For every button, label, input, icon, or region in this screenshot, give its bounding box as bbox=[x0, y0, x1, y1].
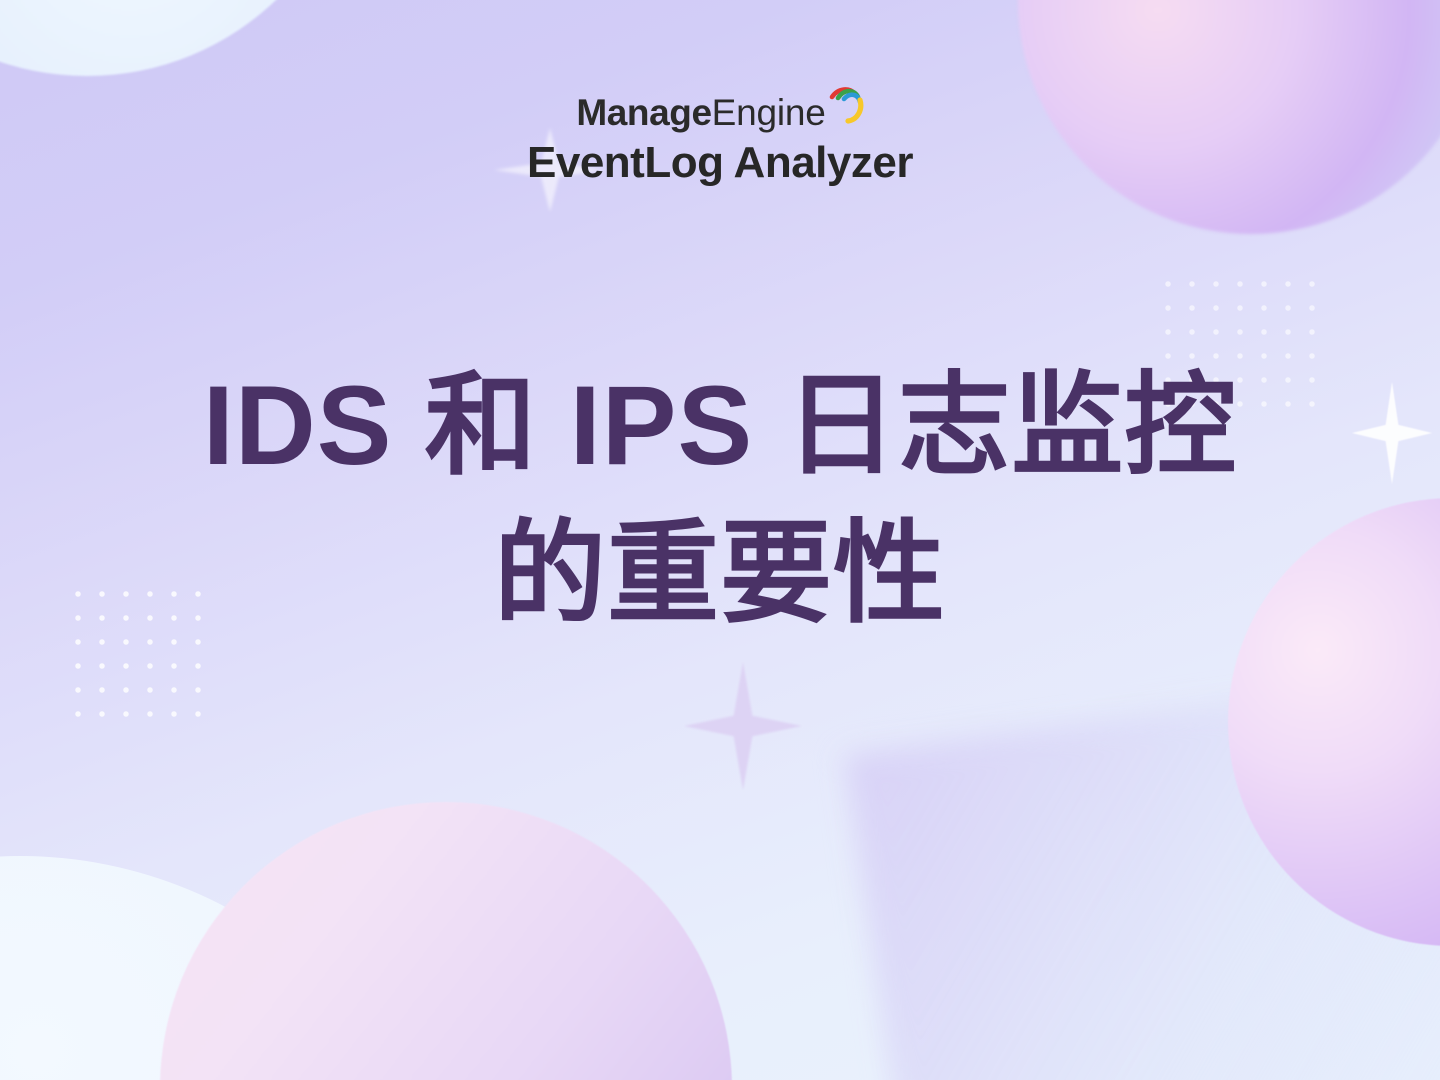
brand-lockup: Manage Engine EventLog Analyzer bbox=[0, 94, 1440, 186]
page-title-line-2: 的重要性 bbox=[0, 500, 1440, 648]
wordmark-manage: Manage bbox=[576, 94, 711, 131]
decor-blob-bottom-left-2 bbox=[160, 802, 732, 1080]
decor-blob-top-left bbox=[0, 0, 360, 76]
sparkle-center-icon bbox=[684, 662, 802, 790]
wordmark-engine: Engine bbox=[712, 94, 826, 131]
product-name: EventLog Analyzer bbox=[0, 140, 1440, 186]
manageengine-wordmark: Manage Engine bbox=[576, 94, 863, 131]
manageengine-swirl-icon bbox=[824, 84, 864, 128]
page-title: IDS 和 IPS 日志监控 的重要性 bbox=[0, 352, 1440, 648]
page-title-line-1: IDS 和 IPS 日志监控 bbox=[0, 352, 1440, 500]
title-slide: Manage Engine EventLog Analyzer IDS 和 IP… bbox=[0, 0, 1440, 1080]
